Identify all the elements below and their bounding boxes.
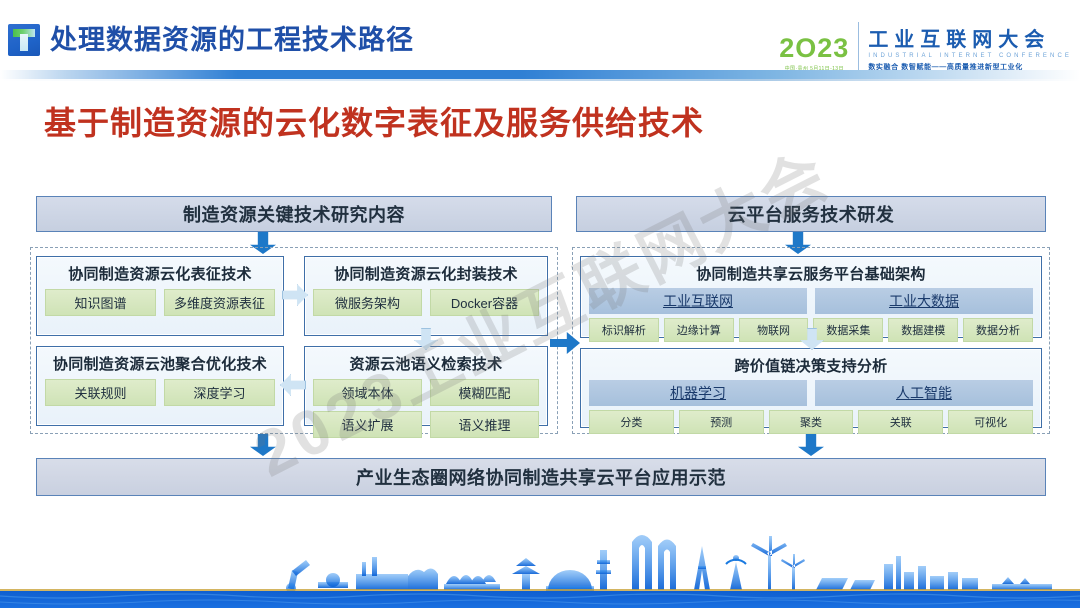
chip-row: 知识图谱 多维度资源表征 — [37, 284, 283, 316]
slide-header: 处理数据资源的工程技术路径 2O23 中国·贵州 5月11日-13日 工业互联网… — [0, 0, 1080, 80]
mini-chip[interactable]: 标识解析 — [589, 318, 659, 342]
chip-row: 微服务架构 Docker容器 — [305, 284, 547, 316]
mini-chip[interactable]: 数据采集 — [813, 318, 883, 342]
mini-chip[interactable]: 数据建模 — [888, 318, 958, 342]
chip-row: 语义扩展 语义推理 — [305, 406, 547, 438]
conference-year-block: 2O23 中国·贵州 5月11日-13日 — [779, 35, 858, 72]
chip-row: 关联规则 深度学习 — [37, 374, 283, 406]
card-pool-aggregation-optimization[interactable]: 协同制造资源云池聚合优化技术 关联规则 深度学习 — [36, 346, 284, 426]
diagram: 制造资源关键技术研究内容 云平台服务技术研发 协同制造资源云化表征技术 知识图谱… — [0, 150, 1080, 510]
chip[interactable]: 微服务架构 — [313, 289, 422, 316]
arrow-down-icon — [798, 434, 824, 456]
conference-name-cn: 工业互联网大会 — [868, 30, 1072, 50]
bar[interactable]: 工业大数据 — [815, 288, 1033, 314]
mini-chip[interactable]: 数据分析 — [963, 318, 1033, 342]
industrial-city-skyline-icon — [0, 516, 1080, 608]
bar-row: 机器学习 人工智能 — [581, 376, 1041, 406]
bar[interactable]: 工业互联网 — [589, 288, 807, 314]
card-title: 资源云池语义检索技术 — [305, 347, 547, 374]
slide-root: 处理数据资源的工程技术路径 2O23 中国·贵州 5月11日-13日 工业互联网… — [0, 0, 1080, 608]
chip[interactable]: Docker容器 — [430, 289, 539, 316]
chip[interactable]: 多维度资源表征 — [164, 289, 275, 316]
card-platform-infrastructure[interactable]: 协同制造共享云服务平台基础架构 工业互联网 工业大数据 标识解析 边缘计算 物联… — [580, 256, 1042, 338]
bar[interactable]: 人工智能 — [815, 380, 1033, 406]
chip[interactable]: 语义扩展 — [313, 411, 422, 438]
page-title: 处理数据资源的工程技术路径 — [50, 18, 414, 57]
card-title: 协同制造资源云池聚合优化技术 — [37, 347, 283, 374]
chip[interactable]: 关联规则 — [45, 379, 156, 406]
card-title: 协同制造共享云服务平台基础架构 — [581, 257, 1041, 284]
header-rule — [0, 70, 1080, 79]
bar[interactable]: 机器学习 — [589, 380, 807, 406]
conference-name-block: 工业互联网大会 INDUSTRIAL INTERNET CONFERENCE 数… — [859, 30, 1072, 72]
mini-chip[interactable]: 分类 — [589, 410, 674, 434]
chip[interactable]: 深度学习 — [164, 379, 275, 406]
mini-chip[interactable]: 物联网 — [739, 318, 809, 342]
mini-chip[interactable]: 关联 — [858, 410, 943, 434]
conference-year: 2O23 — [779, 35, 849, 62]
card-semantic-retrieval[interactable]: 资源云池语义检索技术 领域本体 模糊匹配 语义扩展 语义推理 — [304, 346, 548, 426]
mini-chip[interactable]: 边缘计算 — [664, 318, 734, 342]
chip[interactable]: 语义推理 — [430, 411, 539, 438]
chip-row: 领域本体 模糊匹配 — [305, 374, 547, 406]
conference-name-en: INDUSTRIAL INTERNET CONFERENCE — [868, 53, 1072, 59]
slide-title: 基于制造资源的云化数字表征及服务供给技术 — [44, 98, 704, 144]
skyline-shapes — [286, 535, 1052, 593]
conference-logo: 2O23 中国·贵州 5月11日-13日 工业互联网大会 INDUSTRIAL … — [779, 22, 1072, 72]
bar-row: 工业互联网 工业大数据 — [581, 284, 1041, 314]
diagram-footer-banner: 产业生态圈网络协同制造共享云平台应用示范 — [36, 458, 1046, 496]
mini-row: 分类 预测 聚类 关联 可视化 — [581, 406, 1041, 434]
header-rule-secondary — [0, 79, 1080, 81]
chip[interactable]: 领域本体 — [313, 379, 422, 406]
card-title: 跨价值链决策支持分析 — [581, 349, 1041, 376]
t-logo-icon — [8, 24, 40, 56]
left-column-header: 制造资源关键技术研究内容 — [36, 196, 552, 232]
arrow-down-icon — [250, 434, 276, 456]
chip[interactable]: 模糊匹配 — [430, 379, 539, 406]
card-cross-value-chain-decision[interactable]: 跨价值链决策支持分析 机器学习 人工智能 分类 预测 聚类 关联 可视化 — [580, 348, 1042, 428]
chip[interactable]: 知识图谱 — [45, 289, 156, 316]
card-cloud-encapsulation[interactable]: 协同制造资源云化封装技术 微服务架构 Docker容器 — [304, 256, 548, 336]
right-column-header: 云平台服务技术研发 — [576, 196, 1046, 232]
mini-chip[interactable]: 可视化 — [948, 410, 1033, 434]
card-cloud-representation[interactable]: 协同制造资源云化表征技术 知识图谱 多维度资源表征 — [36, 256, 284, 336]
mini-chip[interactable]: 预测 — [679, 410, 764, 434]
mini-chip[interactable]: 聚类 — [769, 410, 854, 434]
card-title: 协同制造资源云化封装技术 — [305, 257, 547, 284]
card-title: 协同制造资源云化表征技术 — [37, 257, 283, 284]
